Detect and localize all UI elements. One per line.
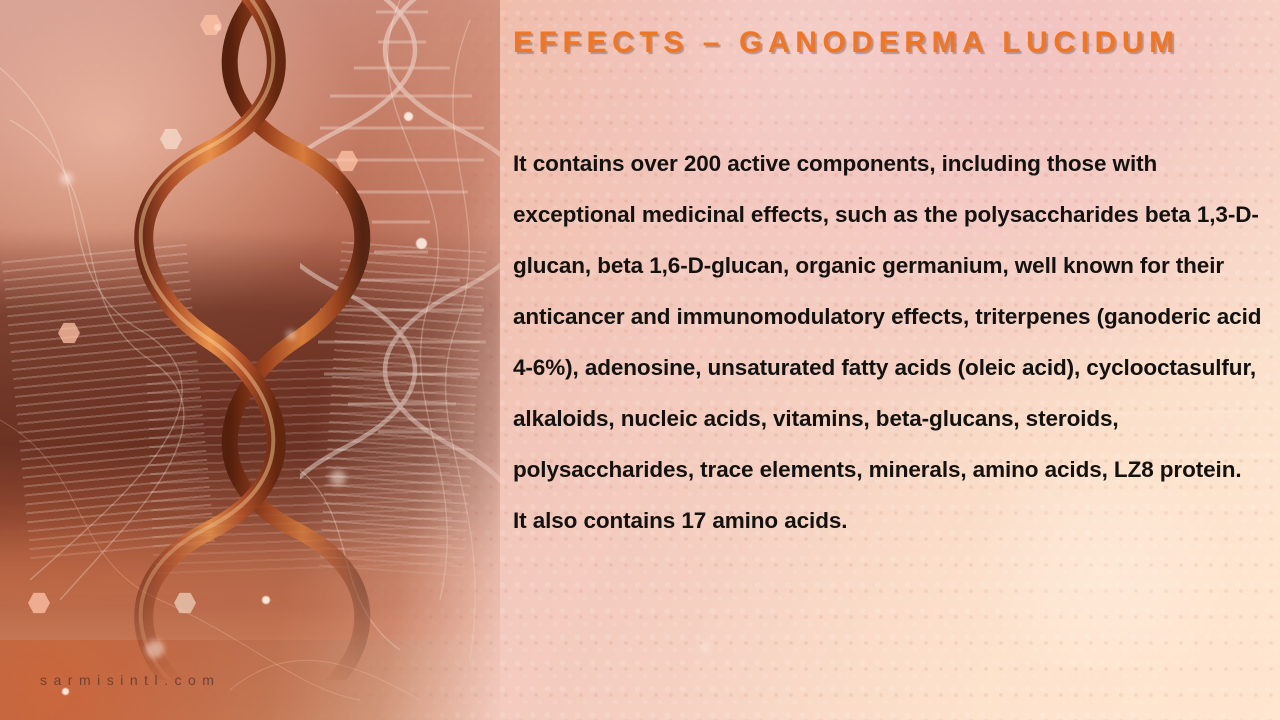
light-particle-dot — [330, 470, 346, 486]
slide-canvas: EFFECTS – GANODERMA LUCIDUM It contains … — [0, 0, 1280, 720]
light-particle-dot — [146, 640, 164, 658]
light-particle-dot — [416, 238, 427, 249]
slide-body: It contains over 200 active components, … — [513, 138, 1265, 546]
body-paragraph-1: It contains over 200 active components, … — [513, 138, 1265, 495]
dna-artwork-panel — [0, 0, 500, 720]
body-paragraph-2: It also contains 17 amino acids. — [513, 495, 1265, 546]
light-particle-dot — [700, 642, 710, 652]
slide-title: EFFECTS – GANODERMA LUCIDUM — [513, 26, 1258, 60]
light-particle-dot — [62, 688, 69, 695]
light-particle-dot — [286, 330, 296, 340]
dna-double-helix-illustration — [100, 0, 400, 680]
light-particle-dot — [404, 112, 413, 121]
site-watermark: sarmisintl.com — [40, 672, 220, 688]
light-particle-dot — [262, 596, 270, 604]
light-particle-dot — [60, 172, 73, 185]
